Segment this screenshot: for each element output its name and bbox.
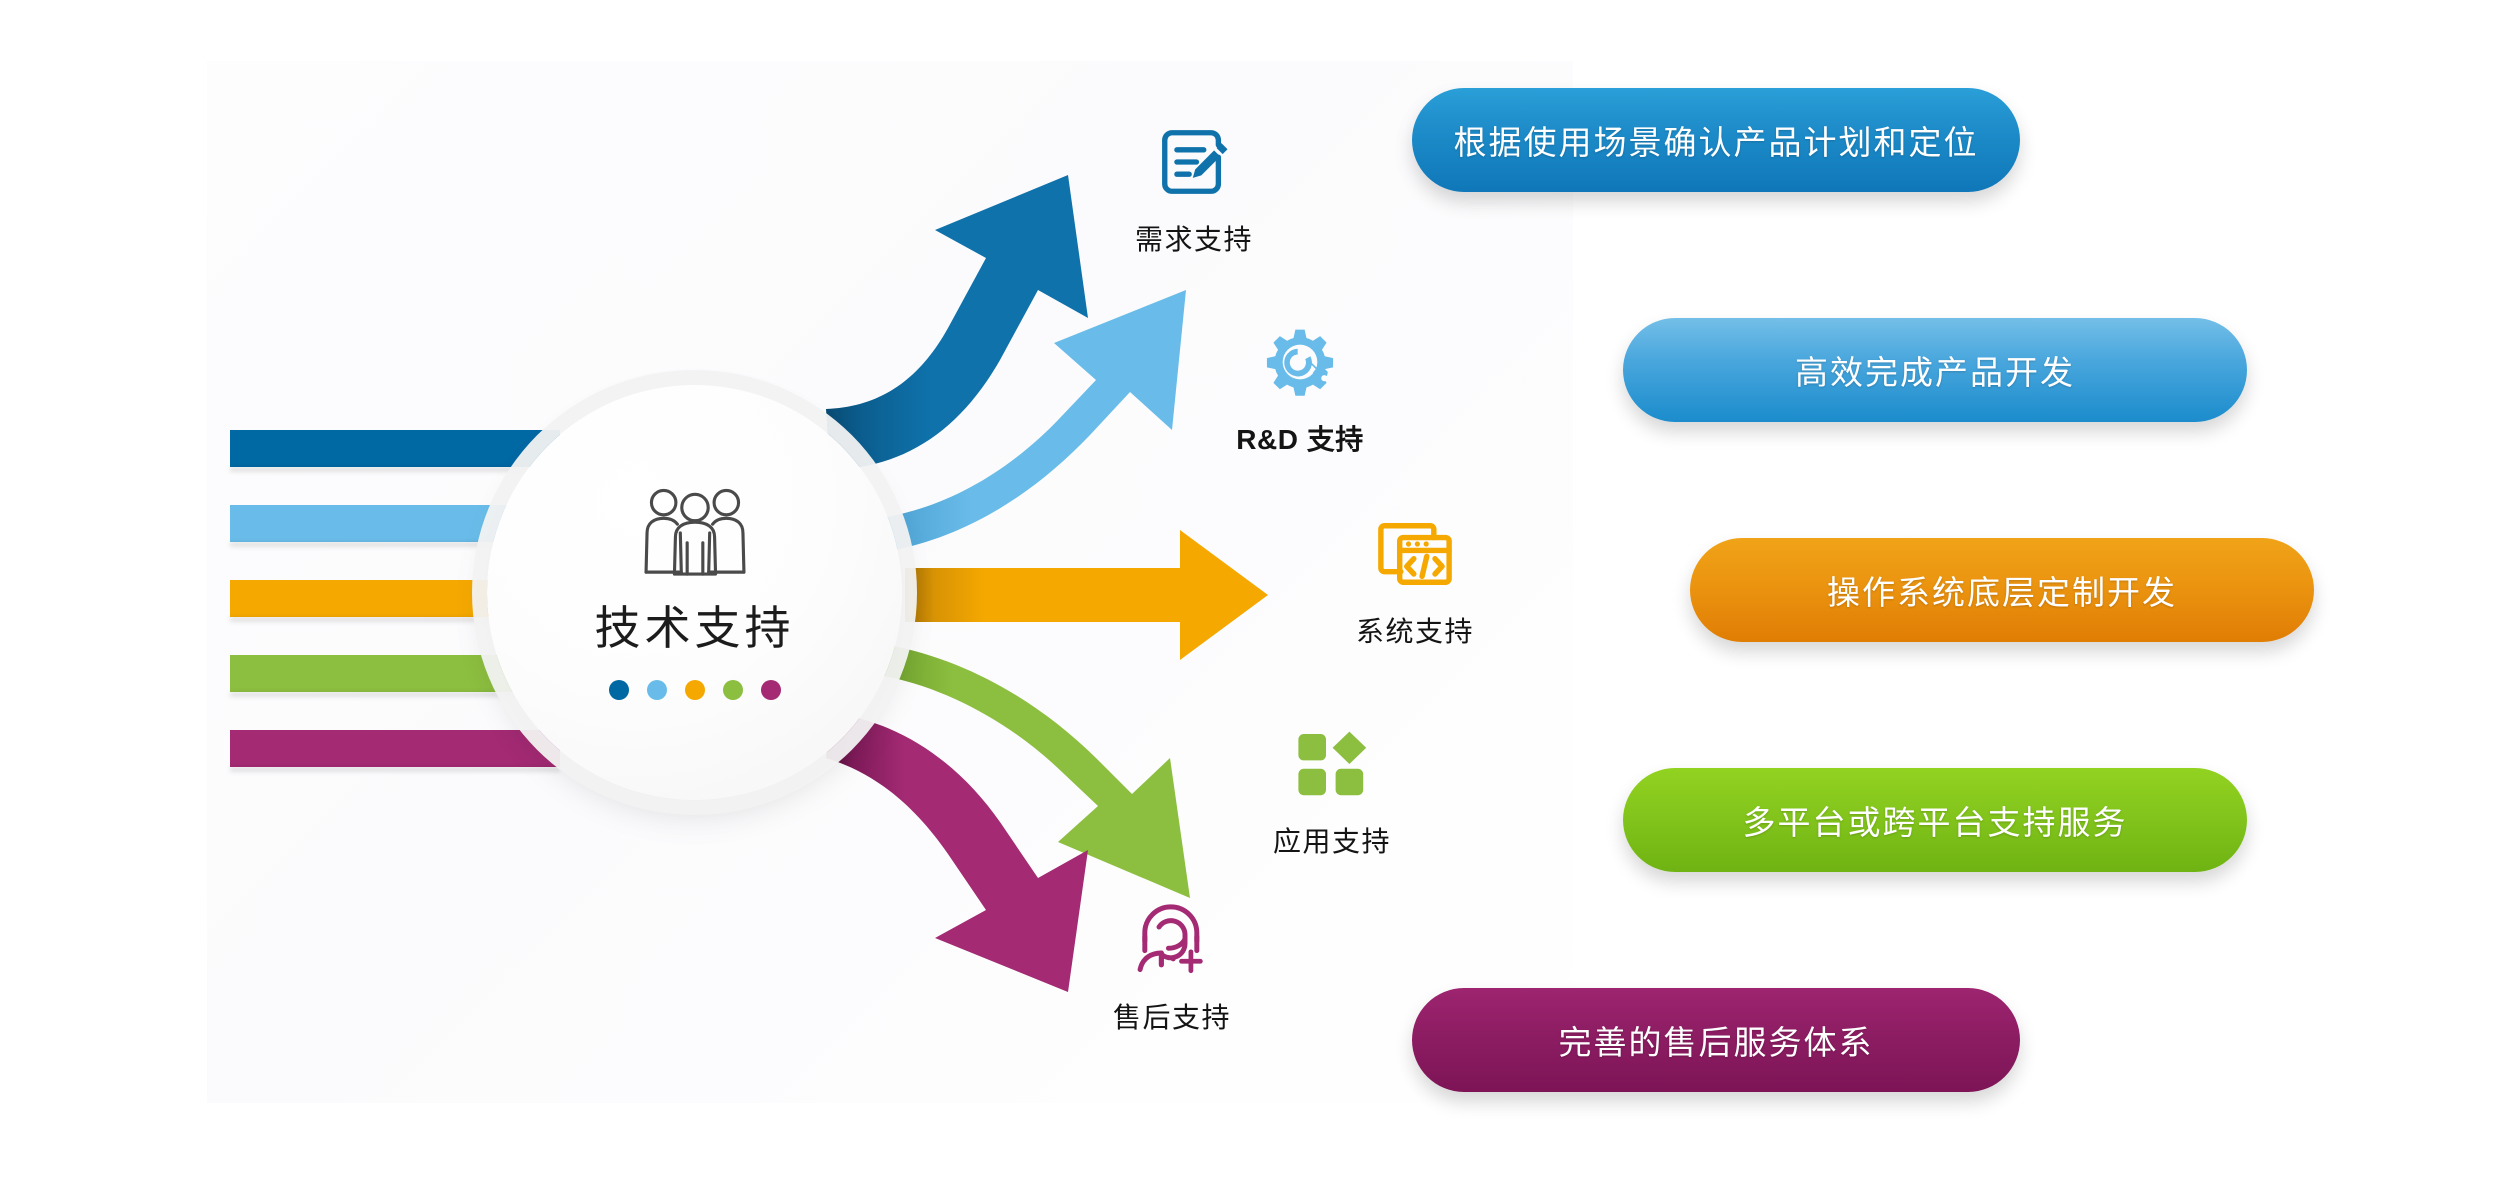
node-label-4: 售后支持: [1113, 996, 1231, 1036]
code-window-icon: [1375, 512, 1455, 596]
headset-support-icon: [1133, 898, 1211, 982]
hub-dot-4: [761, 680, 781, 700]
document-edit-icon: [1155, 120, 1233, 204]
pill-1[interactable]: 高效完成产品开发: [1623, 318, 2247, 422]
node-label-1: R&D 支持: [1236, 418, 1363, 458]
pill-0[interactable]: 根据使用场景确认产品计划和定位: [1412, 88, 2020, 192]
hub-dot-2: [685, 680, 705, 700]
node-aftersales-support[interactable]: 售后支持: [1052, 898, 1292, 1036]
hub-dot-3: [723, 680, 743, 700]
node-label-3: 应用支持: [1273, 820, 1391, 860]
node-label-0: 需求支持: [1135, 218, 1253, 258]
hub-dot-row: [609, 680, 781, 700]
people-group-icon: [636, 486, 754, 578]
node-system-support[interactable]: 系统支持: [1295, 512, 1535, 650]
arrow-curve-up-dark-blue: [826, 175, 1088, 470]
node-requirements-support[interactable]: 需求支持: [1074, 120, 1314, 258]
arrow-straight-orange: [905, 530, 1268, 660]
pill-2[interactable]: 操作系统底层定制开发: [1690, 538, 2314, 642]
pill-4[interactable]: 完善的售后服务体系: [1412, 988, 2020, 1092]
apps-grid-icon: [1296, 722, 1368, 806]
node-label-2: 系统支持: [1356, 610, 1474, 650]
node-application-support[interactable]: 应用支持: [1212, 722, 1452, 860]
hub-title: 技术支持: [595, 592, 795, 658]
hub-dot-0: [609, 680, 629, 700]
gear-wrench-icon: [1263, 320, 1337, 404]
node-rnd-support[interactable]: R&D 支持: [1180, 320, 1420, 458]
pill-3[interactable]: 多平台或跨平台支持服务: [1623, 768, 2247, 872]
infographic-canvas: 技术支持 需求支持: [0, 0, 2520, 1178]
hub-circle[interactable]: 技术支持: [487, 385, 902, 800]
hub-dot-1: [647, 680, 667, 700]
